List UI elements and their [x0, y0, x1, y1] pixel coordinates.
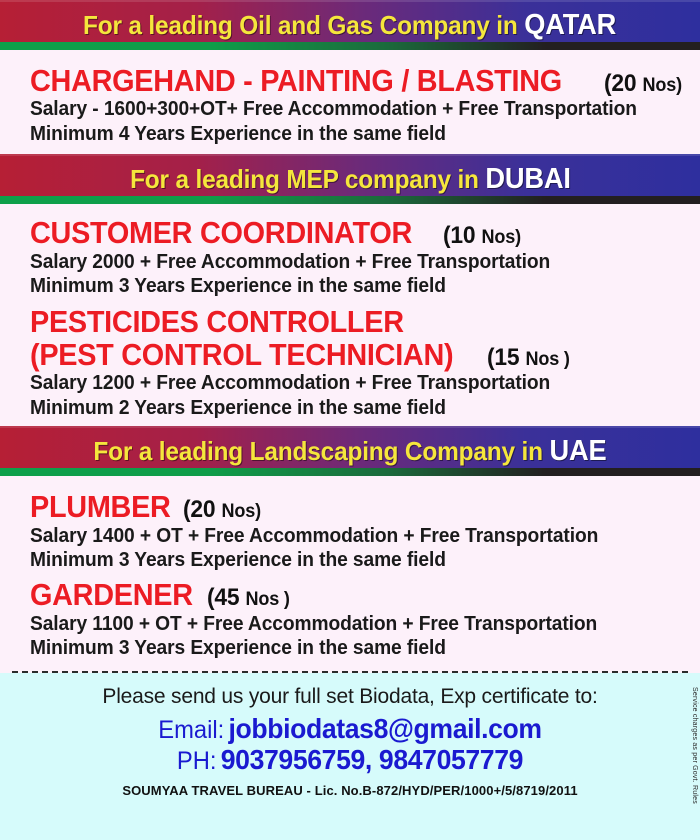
agency-license: SOUMYAA TRAVEL BUREAU - Lic. No.B-872/HY…: [0, 783, 700, 798]
job-entry: PLUMBER(20 Nos) Salary 1400 + OT + Free …: [30, 490, 700, 572]
banner-lead-text: For a leading MEP company in: [130, 164, 485, 194]
banner-bottom-strip: [0, 468, 700, 476]
job-title: GARDENER: [30, 578, 193, 611]
job-count-unit: Nos): [481, 227, 520, 248]
job-title-alt: (PEST CONTROL TECHNICIAN): [30, 338, 453, 371]
job-list-dubai: CUSTOMER COORDINATOR(10 Nos) Salary 2000…: [0, 204, 700, 426]
job-title-line: GARDENER(45 Nos ): [30, 578, 700, 611]
job-count-number: (20: [183, 496, 222, 523]
job-count-number: (15: [487, 344, 526, 371]
banner-country-dubai: DUBAI: [485, 163, 570, 195]
job-experience: Minimum 3 Years Experience in the same f…: [30, 274, 673, 298]
job-count: (10 Nos): [443, 223, 521, 249]
phone-line: PH: 9037956759, 9847057779: [18, 744, 683, 775]
job-count-unit: Nos): [642, 75, 681, 96]
job-count-unit: Nos ): [526, 349, 570, 370]
job-list-qatar: CHARGEHAND - PAINTING / BLASTING(20 Nos)…: [0, 50, 700, 154]
job-advertisement: For a leading Oil and Gas Company in QAT…: [0, 0, 700, 840]
job-title: PLUMBER: [30, 490, 171, 523]
banner-top-rule: [0, 426, 700, 428]
job-experience: Minimum 4 Years Experience in the same f…: [30, 122, 673, 146]
phone-numbers[interactable]: 9037956759, 9847057779: [221, 744, 523, 775]
job-title-line-secondary: (PEST CONTROL TECHNICIAN)(15 Nos ): [30, 338, 700, 371]
job-count-unit: Nos): [222, 501, 261, 522]
job-count: (15 Nos ): [487, 345, 570, 371]
job-salary: Salary 2000 + Free Accommodation + Free …: [30, 250, 673, 274]
banner-title-qatar: For a leading Oil and Gas Company in QAT…: [83, 9, 616, 42]
banner-bottom-strip: [0, 42, 700, 50]
job-entry: PESTICIDES CONTROLLER (PEST CONTROL TECH…: [30, 305, 700, 421]
job-count: (20 Nos): [604, 71, 682, 97]
job-count-number: (10: [443, 222, 482, 249]
job-salary: Salary 1400 + OT + Free Accommodation + …: [30, 524, 673, 548]
job-salary: Salary 1100 + OT + Free Accommodation + …: [30, 612, 673, 636]
job-entry: GARDENER(45 Nos ) Salary 1100 + OT + Fre…: [30, 578, 700, 660]
contact-footer: Please send us your full set Biodata, Ex…: [0, 673, 700, 840]
job-title-line: CHARGEHAND - PAINTING / BLASTING(20 Nos): [30, 64, 700, 97]
job-title: CHARGEHAND - PAINTING / BLASTING: [30, 64, 562, 97]
job-title: PESTICIDES CONTROLLER: [30, 305, 404, 338]
job-salary: Salary - 1600+300+OT+ Free Accommodation…: [30, 97, 673, 121]
banner-top-rule: [0, 154, 700, 156]
banner-bottom-strip: [0, 196, 700, 204]
job-count: (20 Nos): [183, 497, 261, 523]
section-banner-dubai: For a leading MEP company in DUBAI: [0, 154, 700, 204]
job-title-line: PESTICIDES CONTROLLER: [30, 305, 700, 338]
job-title-line: CUSTOMER COORDINATOR(10 Nos): [30, 216, 700, 249]
banner-top-rule: [0, 0, 700, 2]
banner-title-uae: For a leading Landscaping Company in UAE: [93, 435, 606, 468]
job-experience: Minimum 3 Years Experience in the same f…: [30, 636, 673, 660]
section-banner-qatar: For a leading Oil and Gas Company in QAT…: [0, 0, 700, 50]
job-list-uae: PLUMBER(20 Nos) Salary 1400 + OT + Free …: [0, 476, 700, 667]
banner-lead-text: For a leading Landscaping Company in: [93, 436, 549, 466]
job-title: CUSTOMER COORDINATOR: [30, 216, 412, 249]
email-label: Email:: [158, 716, 224, 744]
phone-label: PH:: [177, 747, 217, 775]
job-count-unit: Nos ): [246, 589, 290, 610]
banner-title-dubai: For a leading MEP company in DUBAI: [130, 163, 571, 196]
service-charge-note: Service charges as per Govt. Rules: [684, 687, 698, 797]
banner-lead-text: For a leading Oil and Gas Company in: [83, 10, 524, 40]
job-experience: Minimum 2 Years Experience in the same f…: [30, 396, 673, 420]
job-title-line: PLUMBER(20 Nos): [30, 490, 700, 523]
job-entry: CUSTOMER COORDINATOR(10 Nos) Salary 2000…: [30, 216, 700, 298]
job-count-number: (45: [207, 584, 246, 611]
submission-instruction: Please send us your full set Biodata, Ex…: [0, 685, 700, 709]
section-banner-uae: For a leading Landscaping Company in UAE: [0, 426, 700, 476]
job-salary: Salary 1200 + Free Accommodation + Free …: [30, 371, 673, 395]
job-count-number: (20: [604, 70, 643, 97]
banner-country-uae: UAE: [550, 435, 607, 467]
email-address[interactable]: jobbiodatas8@gmail.com: [229, 713, 542, 744]
job-entry: CHARGEHAND - PAINTING / BLASTING(20 Nos)…: [30, 64, 700, 146]
banner-country-qatar: QATAR: [525, 9, 617, 41]
job-count: (45 Nos ): [207, 585, 290, 611]
job-experience: Minimum 3 Years Experience in the same f…: [30, 548, 673, 572]
email-line: Email: jobbiodatas8@gmail.com: [18, 713, 683, 744]
